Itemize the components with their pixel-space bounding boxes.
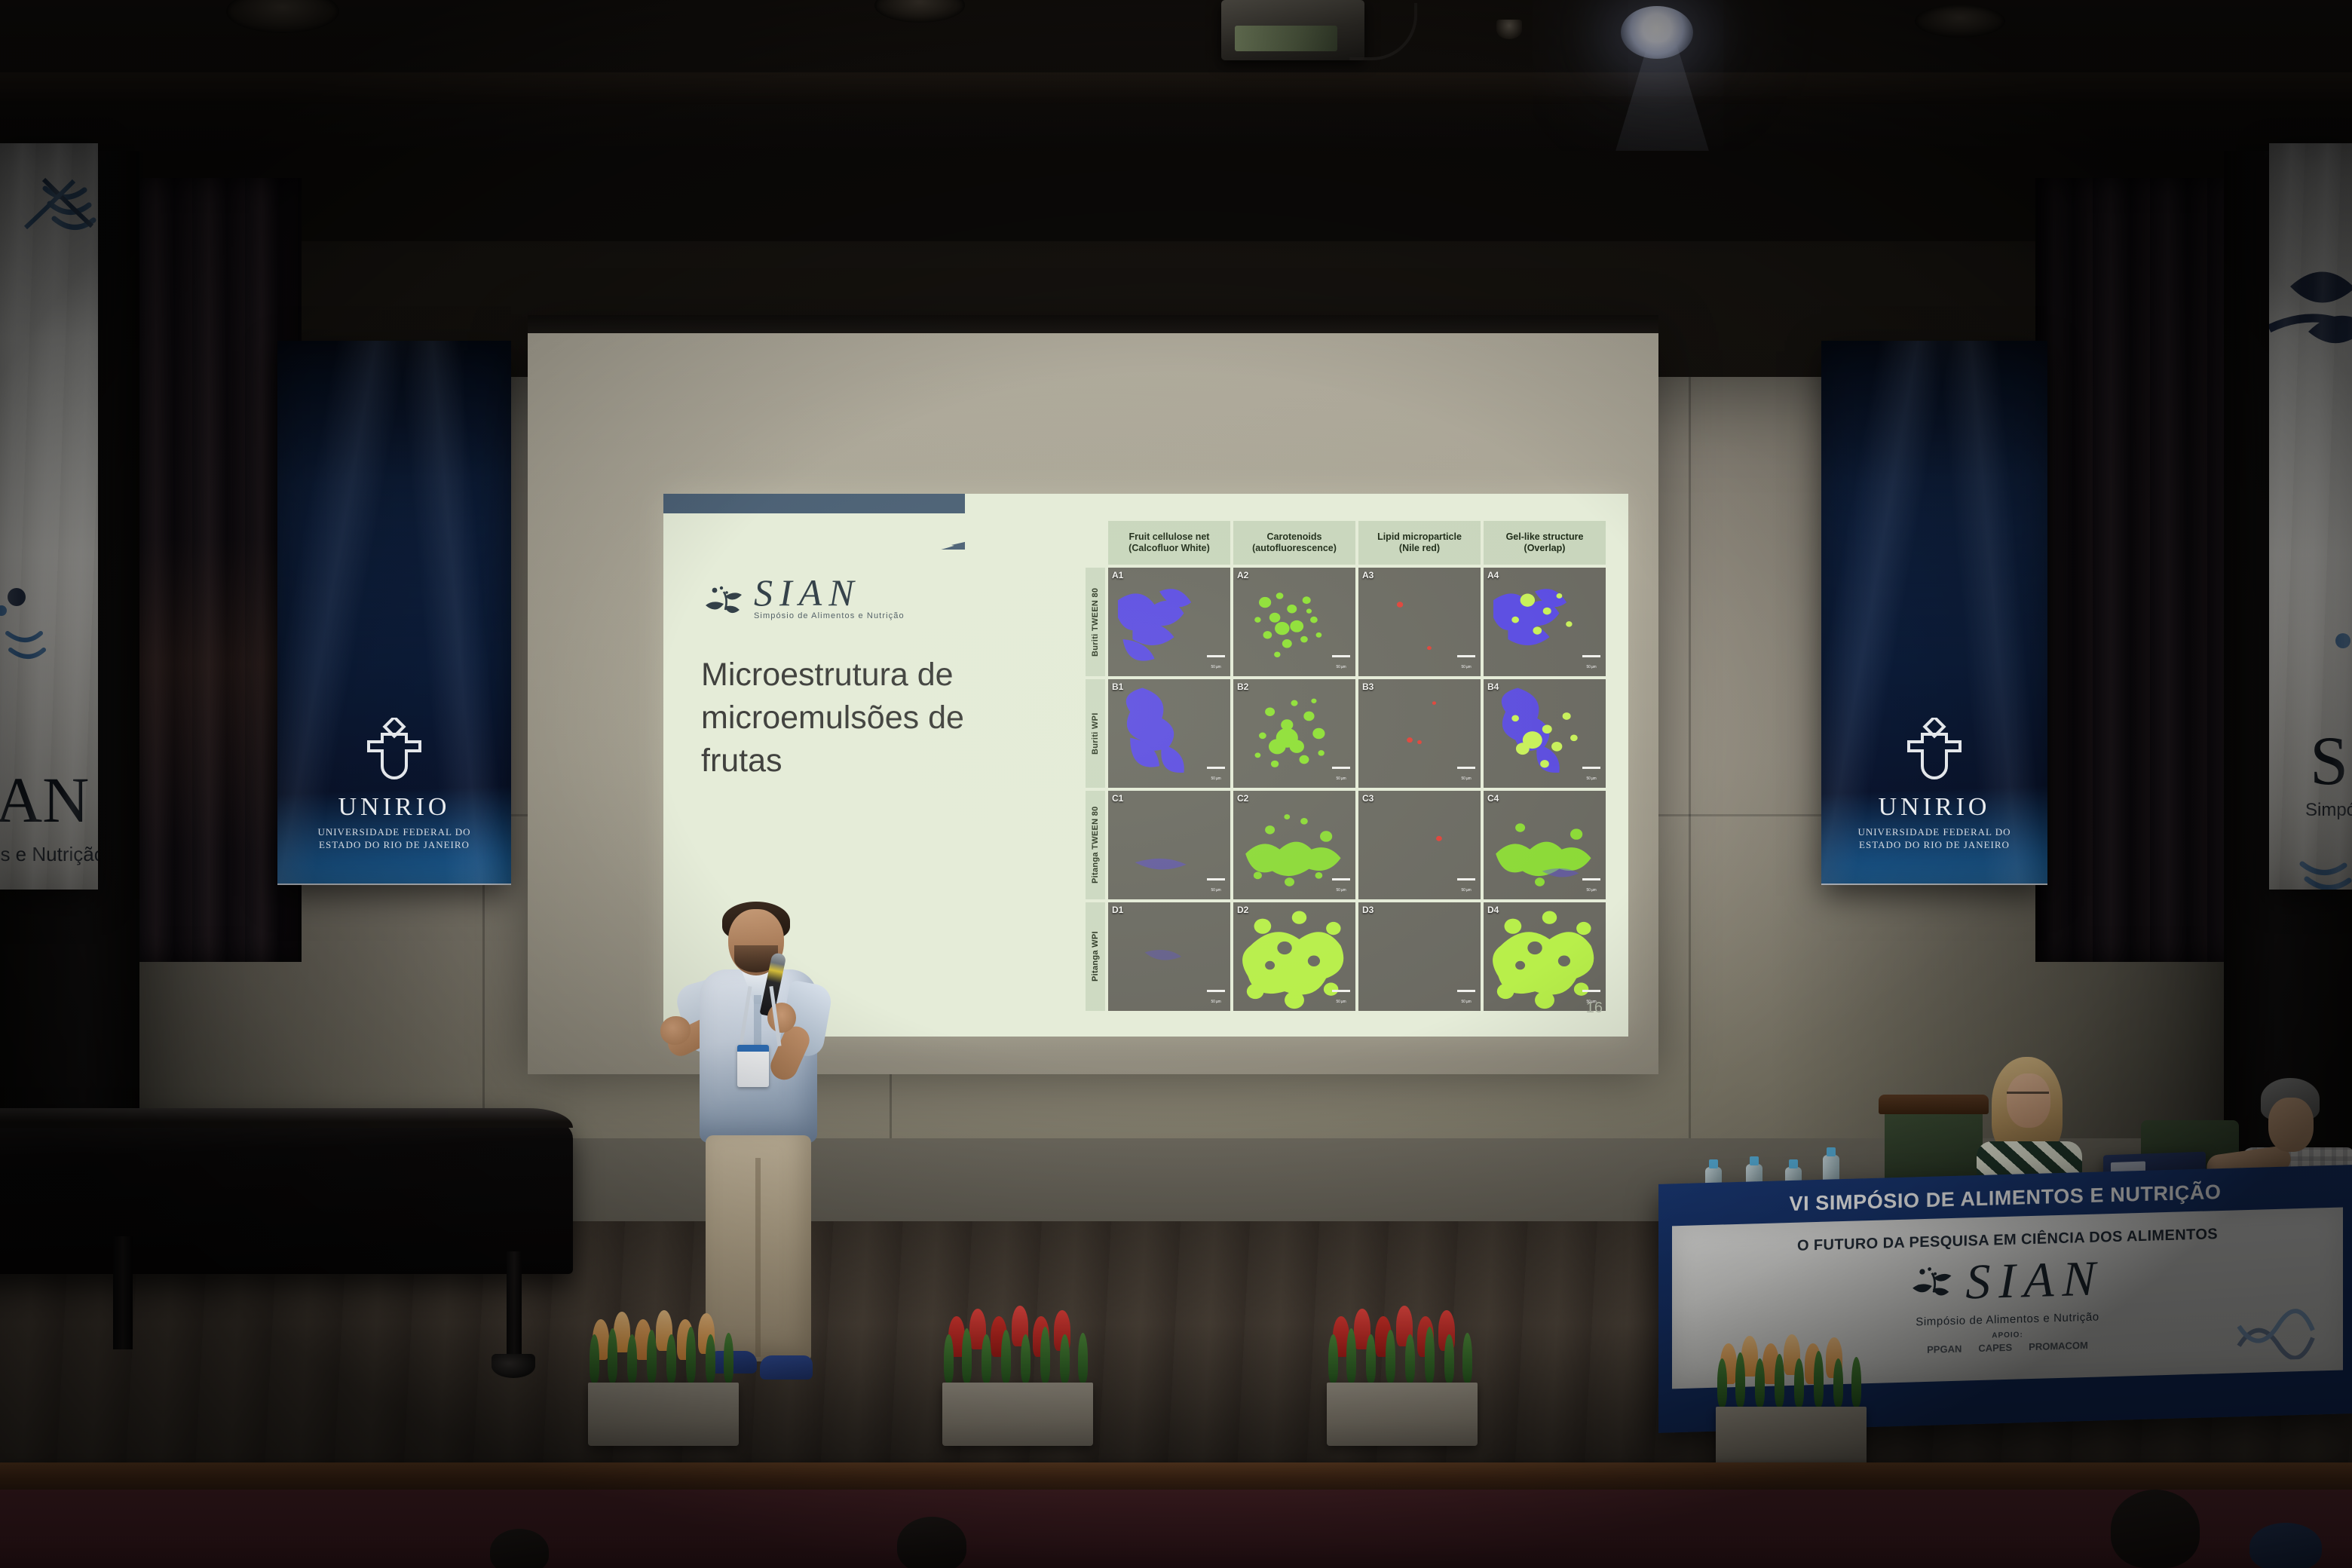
micrograph-cell: A1 50 µm: [1108, 568, 1230, 676]
micrograph-label: D3: [1362, 905, 1374, 915]
unirio-logo-icon: [1906, 718, 1963, 787]
scale-bar: 50 µm: [1456, 655, 1476, 672]
ceiling-vent-icon: [1915, 5, 2005, 38]
micrograph-label: B2: [1237, 681, 1248, 692]
grid-row-header: Buriti TWEEN 80: [1086, 568, 1105, 676]
sian-logo-subtitle: Simpósio de Alimentos e Nutrição: [754, 611, 905, 620]
unirio-subtitle: UNIVERSIDADE FEDERAL DO ESTADO DO RIO DE…: [1857, 825, 2011, 852]
scale-bar: 50 µm: [1582, 990, 1601, 1006]
sian-logo-word: SIAN: [1965, 1256, 2103, 1305]
micrograph-cell: B4 50 µm: [1484, 679, 1606, 788]
unirio-banner-right: UNIRIO UNIVERSIDADE FEDERAL DO ESTADO DO…: [1821, 341, 2047, 885]
micrograph-cell: D2 50 µm: [1233, 902, 1355, 1011]
dna-helix-icon: [2234, 1306, 2317, 1361]
audience-head: [2111, 1490, 2200, 1568]
scale-bar: 50 µm: [1206, 878, 1226, 895]
unirio-subtitle: UNIVERSIDADE FEDERAL DO ESTADO DO RIO DE…: [317, 825, 470, 852]
micrograph-cell: A2 50 µm: [1233, 568, 1355, 676]
ceiling-fixture-icon: [1496, 20, 1522, 39]
audience-head: [897, 1517, 966, 1568]
micrograph-grid: Fruit cellulose net (Calcofluor White) C…: [1086, 521, 1606, 1011]
planter-box: [1327, 1383, 1478, 1446]
sian-partial-subtitle: Simpósio: [2305, 800, 2352, 820]
ceiling-vent-icon: [874, 0, 965, 23]
sponsor-logo: PROMACOM: [2029, 1340, 2088, 1352]
sponsor-logo: CAPES: [1978, 1342, 2012, 1354]
sian-partial-subtitle: os e Nutrição: [0, 843, 98, 865]
presenter-shoe-right: [760, 1355, 813, 1380]
scale-bar: 50 µm: [1456, 767, 1476, 783]
sian-partial-word: S: [2310, 722, 2348, 799]
presenter-hand-left: [660, 1016, 691, 1045]
planter-box: [588, 1383, 739, 1446]
micrograph-cell: C2 50 µm: [1233, 791, 1355, 899]
scale-bar: 50 µm: [1331, 990, 1351, 1006]
micrograph-cell: D3 50 µm: [1358, 902, 1481, 1011]
micrograph-cell: B1 50 µm: [1108, 679, 1230, 788]
micrograph-cell: D4 50 µm: [1484, 902, 1606, 1011]
sian-leaf-icon: [704, 584, 748, 620]
planter-box: [1716, 1407, 1867, 1470]
ceiling-vent-icon: [226, 0, 339, 33]
micrograph-label: D2: [1237, 905, 1248, 915]
micrograph-label: B1: [1112, 681, 1123, 692]
unirio-banner-left: UNIRIO UNIVERSIDADE FEDERAL DO ESTADO DO…: [277, 341, 511, 885]
sian-logo-table: SIAN: [1672, 1249, 2343, 1312]
slide-header-wave: [663, 513, 1018, 568]
unirio-logo-icon: [366, 718, 423, 787]
micrograph-label: C1: [1112, 793, 1123, 804]
scale-bar: 50 µm: [1206, 655, 1226, 672]
micrograph-label: D4: [1487, 905, 1499, 915]
sian-rollup-banner-left-edge: AN os e Nutrição: [0, 143, 98, 890]
micrograph-cell: D1 50 µm: [1108, 902, 1230, 1011]
sian-logo: SIAN Simpósio de Alimentos e Nutrição: [704, 575, 905, 620]
micrograph-label: A3: [1362, 570, 1374, 580]
scale-bar: 50 µm: [1456, 878, 1476, 895]
micrograph-label: C3: [1362, 793, 1374, 804]
sian-logo-word: SIAN: [754, 575, 905, 610]
fern-foliage: [942, 1324, 1093, 1383]
grid-row-header: Buriti WPI: [1086, 679, 1105, 788]
sian-rollup-banner-right-edge: S Simpósio: [2269, 143, 2352, 890]
audience-head: [490, 1529, 549, 1568]
micrograph-label: A1: [1112, 570, 1123, 580]
micrograph-label: B4: [1487, 681, 1499, 692]
sian-partial-word: AN: [0, 764, 89, 836]
scale-bar: 50 µm: [1331, 878, 1351, 895]
grid-column-header: Lipid microparticle (Nile red): [1358, 521, 1481, 565]
piano-leg: [113, 1236, 133, 1349]
proscenium-top: [0, 151, 2352, 241]
micrograph-cell: A4 50 µm: [1484, 568, 1606, 676]
micrograph-label: C2: [1237, 793, 1248, 804]
scale-bar: 50 µm: [1206, 767, 1226, 783]
scale-bar: 50 µm: [1456, 990, 1476, 1006]
slide-title-line1: Microestrutura de: [701, 654, 1025, 697]
grand-piano: [0, 1108, 573, 1274]
micrograph-label: C4: [1487, 793, 1499, 804]
ceiling-projector: [1221, 0, 1364, 60]
micrograph-cell: C4 50 µm: [1484, 791, 1606, 899]
fern-foliage: [588, 1324, 739, 1383]
stage-edge-trim: [0, 1462, 2352, 1493]
unirio-name: UNIRIO: [338, 793, 451, 822]
micrograph-cell: A3 50 µm: [1358, 568, 1481, 676]
grid-corner-blank: [1086, 521, 1105, 565]
piano-caster-wheel: [492, 1354, 535, 1378]
panelist-face: [2007, 1073, 2050, 1128]
grid-column-header: Fruit cellulose net (Calcofluor White): [1108, 521, 1230, 565]
eyeglasses-icon: [2007, 1092, 2049, 1099]
planter-box: [942, 1383, 1093, 1446]
micrograph-cell: B2 50 µm: [1233, 679, 1355, 788]
scale-bar: 50 µm: [1582, 767, 1601, 783]
unirio-name: UNIRIO: [1879, 793, 1991, 822]
grid-row-header: Pitanga WPI: [1086, 902, 1105, 1011]
micrograph-cell: B3 50 µm: [1358, 679, 1481, 788]
scale-bar: 50 µm: [1582, 878, 1601, 895]
scale-bar: 50 µm: [1331, 767, 1351, 783]
sponsor-logo: PPGAN: [1927, 1343, 1962, 1355]
stage-front-fascia: [0, 1490, 2352, 1568]
grid-column-header: Gel-like structure (Overlap): [1484, 521, 1606, 565]
micrograph-label: B3: [1362, 681, 1374, 692]
ceiling-beam: [0, 72, 2352, 104]
scale-bar: 50 µm: [1206, 990, 1226, 1006]
ceiling: [0, 0, 2352, 173]
grid-row-header: Pitanga TWEEN 80: [1086, 791, 1105, 899]
banner-base: [1821, 884, 2047, 885]
micrograph-label: D1: [1112, 905, 1123, 915]
sian-leaf-icon: [1911, 1263, 1958, 1306]
slide-title: Microestrutura de microemulsões de fruta…: [701, 654, 1025, 782]
grid-column-header: Carotenoids (autofluorescence): [1233, 521, 1355, 565]
micrograph-cell: C1 50 µm: [1108, 791, 1230, 899]
fern-foliage: [1327, 1324, 1478, 1383]
piano-leg: [507, 1251, 522, 1363]
stage-curtain-right: [2035, 178, 2224, 962]
panelist-face: [2268, 1098, 2314, 1152]
micrograph-label: A4: [1487, 570, 1499, 580]
fern-foliage: [1716, 1348, 1867, 1407]
slide-title-line2: microemulsões de frutas: [701, 697, 1025, 782]
audience-head: [2249, 1523, 2322, 1568]
presenter-placket: [754, 995, 761, 1045]
banner-base: [277, 884, 511, 885]
auditorium-presentation-photo: AN os e Nutrição S Simpósio: [0, 0, 2352, 1568]
scale-bar: 50 µm: [1331, 655, 1351, 672]
micrograph-label: A2: [1237, 570, 1248, 580]
scale-bar: 50 µm: [1582, 655, 1601, 672]
presenter-badge: [737, 1045, 769, 1087]
micrograph-cell: C3 50 µm: [1358, 791, 1481, 899]
